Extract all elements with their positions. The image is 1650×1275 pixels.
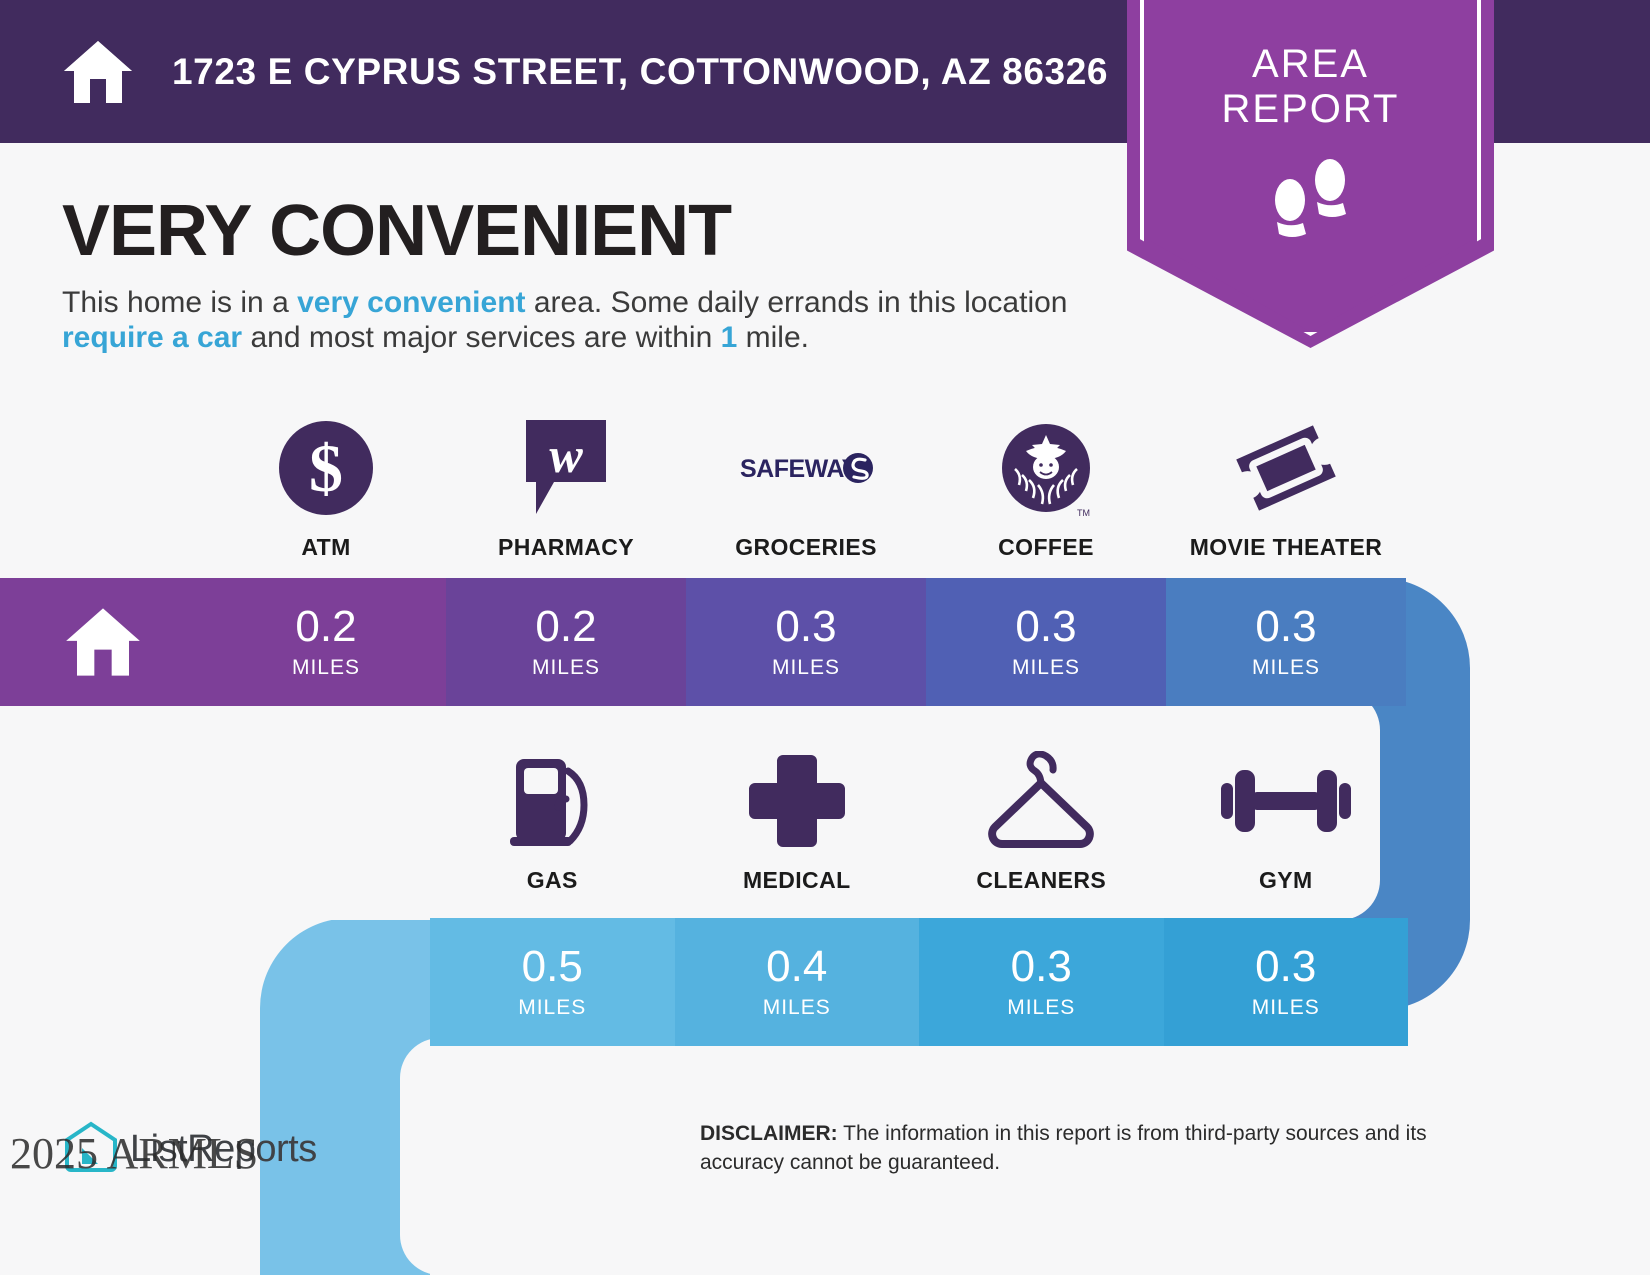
amenity-icon-row-1: $ ATM w PHARMACY SAFEWAY GROCERIES: [206, 415, 1406, 561]
footprints-icon: [1268, 152, 1354, 244]
amenity-pharmacy: w PHARMACY: [446, 415, 686, 561]
svg-text:TM: TM: [1077, 508, 1090, 518]
amenity-atm: $ ATM: [206, 415, 446, 561]
amenity-label: GYM: [1259, 867, 1313, 894]
amenity-medical: MEDICAL: [675, 748, 920, 894]
area-report-badge: AREA REPORT: [1127, 0, 1494, 348]
distance-value: 0.5: [522, 945, 583, 989]
distance-value: 0.3: [775, 605, 836, 649]
summary-text: This home is in a very convenient area. …: [62, 285, 1122, 356]
distance-value: 0.2: [535, 605, 596, 649]
summary-part-2: area. Some daily errands in this locatio…: [526, 286, 1068, 319]
home-icon: [64, 606, 142, 678]
amenity-label: PHARMACY: [498, 534, 634, 561]
amenity-label: GROCERIES: [735, 534, 877, 561]
summary-highlight-3: 1: [721, 321, 738, 354]
starbucks-icon: TM: [995, 415, 1097, 520]
disclaimer-label: DISCLAIMER:: [700, 1122, 838, 1145]
distance-segment: 0.2 MILES: [446, 578, 686, 706]
amenity-label: ATM: [301, 534, 350, 561]
svg-text:SAFEWAY: SAFEWAY: [740, 455, 859, 483]
distance-segment: 0.4 MILES: [675, 918, 920, 1046]
amenity-label: COFFEE: [998, 534, 1094, 561]
summary-part-1: This home is in a: [62, 286, 297, 319]
amenity-label: GAS: [527, 867, 578, 894]
distance-value: 0.3: [1255, 605, 1316, 649]
badge-line-1: AREA: [1127, 42, 1494, 87]
movie-ticket-icon: [1234, 415, 1338, 520]
badge-line-2: REPORT: [1127, 87, 1494, 132]
gas-pump-icon: [502, 748, 602, 853]
distance-bar-row-2: 0.5 MILES 0.4 MILES 0.3 MILES 0.3 MILES: [430, 918, 1408, 1046]
amenity-label: MOVIE THEATER: [1190, 534, 1383, 561]
distance-unit: MILES: [518, 996, 586, 1020]
distance-value: 0.3: [1255, 945, 1316, 989]
disclaimer: DISCLAIMER: The information in this repo…: [700, 1120, 1510, 1178]
badge-title: AREA REPORT: [1127, 42, 1494, 132]
summary-part-3: and most major services are within: [242, 321, 721, 354]
distance-unit: MILES: [532, 656, 600, 680]
amenity-icon-row-2: GAS MEDICAL CLEANERS: [430, 748, 1408, 894]
medical-cross-icon: [747, 748, 847, 853]
distance-segment: 0.2 MILES: [206, 578, 446, 706]
distance-segment: 0.3 MILES: [919, 918, 1164, 1046]
amenity-coffee: TM COFFEE: [926, 415, 1166, 561]
dollar-circle-icon: $: [277, 415, 375, 520]
amenity-groceries: SAFEWAY GROCERIES: [686, 415, 926, 561]
amenity-cleaners: CLEANERS: [919, 748, 1164, 894]
home-icon: [62, 39, 134, 105]
amenity-label: CLEANERS: [976, 867, 1106, 894]
distance-unit: MILES: [763, 996, 831, 1020]
summary-part-4: mile.: [737, 321, 809, 354]
distance-segment: 0.3 MILES: [926, 578, 1166, 706]
distance-segment: 0.3 MILES: [1166, 578, 1406, 706]
property-address: 1723 E CYPRUS STREET, COTTONWOOD, AZ 863…: [172, 51, 1108, 93]
svg-text:w: w: [549, 427, 583, 483]
amenity-gas: GAS: [430, 748, 675, 894]
distance-unit: MILES: [1252, 656, 1320, 680]
distance-unit: MILES: [292, 656, 360, 680]
watermark: 2025 ARMLS: [10, 1128, 258, 1179]
dumbbell-icon: [1219, 748, 1353, 853]
amenity-movie-theater: MOVIE THEATER: [1166, 415, 1406, 561]
summary-highlight-1: very convenient: [297, 286, 525, 319]
distance-bar-row-1: 0.2 MILES 0.2 MILES 0.3 MILES 0.3 MILES …: [206, 578, 1406, 706]
distance-segment: 0.5 MILES: [430, 918, 675, 1046]
distance-value: 0.2: [295, 605, 356, 649]
home-marker: [0, 578, 206, 706]
distance-unit: MILES: [772, 656, 840, 680]
walgreens-icon: w: [520, 415, 612, 520]
hanger-icon: [983, 748, 1099, 853]
safeway-icon: SAFEWAY: [738, 415, 874, 520]
distance-unit: MILES: [1007, 996, 1075, 1020]
distance-value: 0.3: [1015, 605, 1076, 649]
distance-segment: 0.3 MILES: [686, 578, 926, 706]
distance-unit: MILES: [1012, 656, 1080, 680]
distance-value: 0.4: [766, 945, 827, 989]
amenity-label: MEDICAL: [743, 867, 851, 894]
distance-value: 0.3: [1011, 945, 1072, 989]
distance-segment: 0.3 MILES: [1164, 918, 1409, 1046]
amenity-gym: GYM: [1164, 748, 1409, 894]
svg-text:$: $: [309, 430, 343, 506]
summary-highlight-2: require a car: [62, 321, 242, 354]
distance-unit: MILES: [1252, 996, 1320, 1020]
page-title: VERY CONVENIENT: [62, 190, 731, 272]
